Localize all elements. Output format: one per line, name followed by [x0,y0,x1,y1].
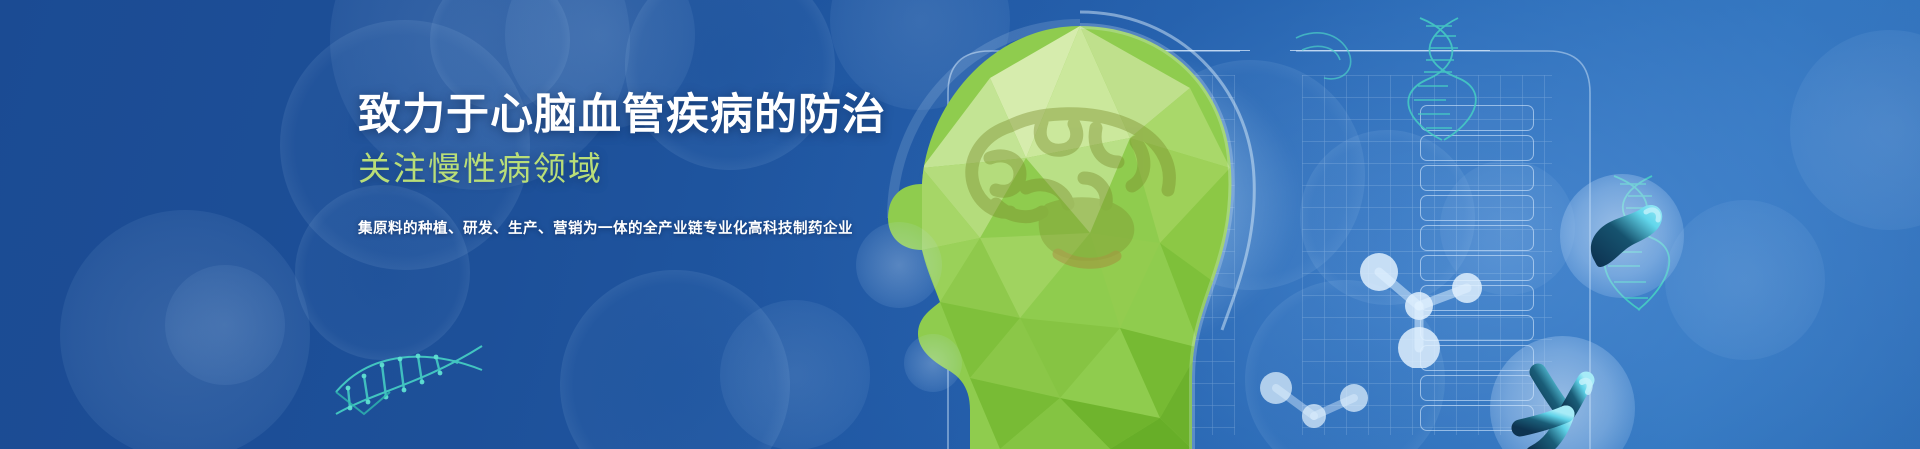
dna-fragment-icon [1290,28,1360,88]
dna-helix-icon [330,318,490,428]
hero-banner: 致力于心脑血管疾病的防治 关注慢性病领域 集原料的种植、研发、生产、营销为一体的… [0,0,1920,449]
page-title: 致力于心脑血管疾病的防治 [358,92,918,138]
headline-emphasis: 心脑血管疾病 [490,91,754,139]
bokeh-circle [560,270,790,449]
page-subtitle: 关注慢性病领域 [358,151,918,187]
bokeh-circle [1790,30,1920,230]
molecule-cluster-icon [1258,368,1368,449]
bacteria-cell [1560,174,1684,298]
rod-bacterium-icon [1560,174,1684,298]
bokeh-circle [165,265,285,385]
hud-bar [1420,165,1534,191]
headline-lead: 致力于 [358,91,490,139]
molecule-cluster-icon [1355,248,1485,368]
headline-tail: 的防治 [754,91,886,139]
bokeh-circle [60,210,310,449]
hud-bar [1420,195,1534,221]
bacteria-cell [1490,336,1635,449]
y-shaped-bacterium-icon [1490,336,1635,449]
page-tagline: 集原料的种植、研发、生产、营销为一体的全产业链专业化高科技制药企业 [358,217,918,238]
dna-helix-icon [1400,14,1490,144]
hero-text-block: 致力于心脑血管疾病的防治 关注慢性病领域 集原料的种植、研发、生产、营销为一体的… [358,92,918,238]
